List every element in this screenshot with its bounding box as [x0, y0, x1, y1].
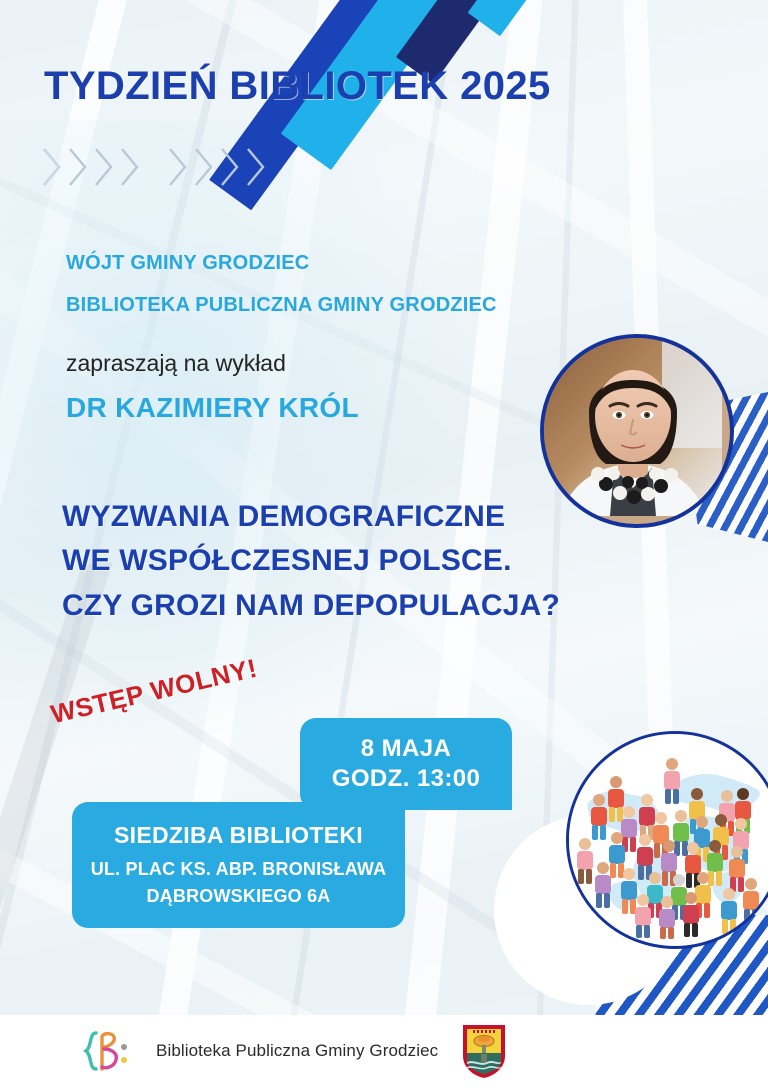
headline-line-3: CZY GROZI NAM DEPOPULACJA? [62, 584, 560, 628]
double-chevron-right-icon [92, 143, 118, 191]
footer-bar: Biblioteka Publiczna Gminy Grodziec [0, 1015, 768, 1087]
speaker-name: DR KAZIMIERY KRÓL [66, 392, 359, 424]
date-time-box: 8 MAJA GODZ. 13:00 [300, 718, 512, 810]
world-population-crowd-illustration [566, 731, 768, 949]
double-chevron-right-icon [244, 143, 270, 191]
double-chevron-right-icon [118, 143, 144, 191]
poster-title: TYDZIEŃ BIBLIOTEK 2025 [44, 64, 551, 109]
lecture-headline: WYZWANIA DEMOGRAFICZNE WE WSPÓŁCZESNEJ P… [62, 495, 560, 628]
organiser-line-2: BIBLIOTEKA PUBLICZNA GMINY GRODZIEC [66, 294, 497, 317]
invitation-text: zapraszają na wykład [66, 350, 286, 377]
double-chevron-right-icon [166, 143, 192, 191]
venue-name: SIEDZIBA BIBLIOTEKI [114, 822, 363, 849]
speaker-portrait-photo [540, 334, 734, 528]
venue-street: UL. PLAC KS. ABP. BRONISŁAWA [91, 856, 387, 883]
headline-line-2: WE WSPÓŁCZESNEJ POLSCE. [62, 539, 560, 583]
grodziec-coat-of-arms [460, 1022, 508, 1080]
footer-library-name: Biblioteka Publiczna Gminy Grodziec [156, 1041, 438, 1061]
headline-line-1: WYZWANIA DEMOGRAFICZNE [62, 495, 560, 539]
chevron-group-2 [166, 143, 270, 191]
chevron-group-1 [40, 143, 144, 191]
double-chevron-right-icon [192, 143, 218, 191]
chevron-group-gap [144, 143, 166, 191]
diagonal-ribbon-decoration-4 [468, 0, 677, 36]
double-chevron-right-icon [40, 143, 66, 191]
double-chevron-right-icon [218, 143, 244, 191]
poster-canvas: TYDZIEŃ BIBLIOTEK 2025 WÓJT GMINY GRODZI… [0, 0, 768, 1087]
venue-street-2: DĄBROWSKIEGO 6A [146, 883, 330, 910]
venue-address-box: SIEDZIBA BIBLIOTEKI UL. PLAC KS. ABP. BR… [72, 802, 405, 928]
event-date: 8 MAJA [361, 734, 451, 764]
chevron-decoration-row [40, 143, 270, 191]
organiser-line-1: WÓJT GMINY GRODZIEC [66, 252, 309, 275]
ribbon-decoration-group [438, 0, 768, 300]
event-time: GODZ. 13:00 [332, 764, 480, 794]
footer-content: Biblioteka Publiczna Gminy Grodziec [78, 1022, 508, 1080]
double-chevron-right-icon [66, 143, 92, 191]
library-brace-b-logo [78, 1027, 134, 1075]
